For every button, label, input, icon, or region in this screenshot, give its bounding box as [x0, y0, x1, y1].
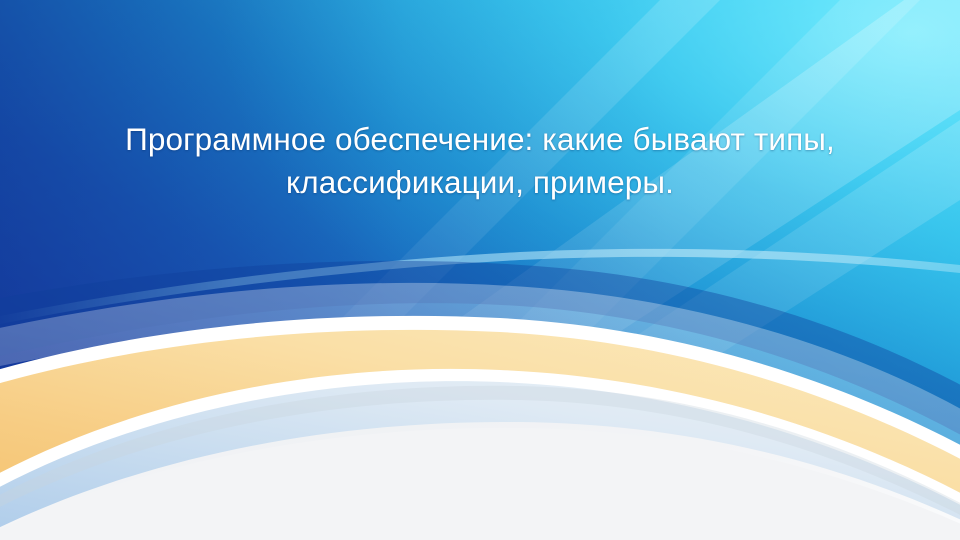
presentation-slide: Программное обеспечение: какие бывают ти…	[0, 0, 960, 540]
slide-background-art	[0, 0, 960, 540]
